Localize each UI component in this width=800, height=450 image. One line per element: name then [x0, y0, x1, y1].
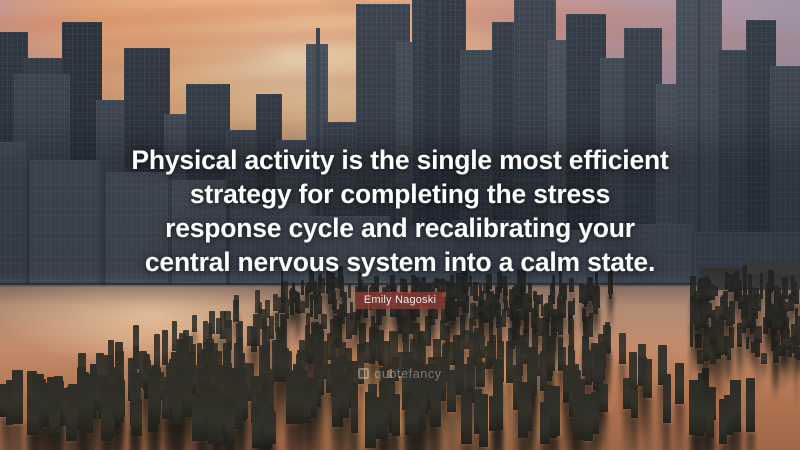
pier-piling: [573, 390, 584, 440]
pier-piling: [726, 311, 732, 326]
pier-piling: [6, 380, 14, 425]
pier-piling: [717, 326, 724, 355]
pier-piling: [737, 323, 742, 347]
pier-piling: [550, 386, 560, 436]
pier-piling: [434, 278, 438, 288]
pier-piling: [619, 333, 626, 364]
quote-line-3: response cycle and recalibrating your: [110, 211, 690, 245]
pier-piling: [748, 308, 752, 326]
pier-piling: [66, 387, 77, 441]
pier-piling: [392, 394, 400, 436]
pier-piling: [131, 399, 139, 431]
pier-piling: [209, 311, 215, 335]
pier-piling: [631, 385, 638, 418]
quote-text: Physical activity is the single most eff…: [110, 143, 690, 279]
pier-piling: [797, 326, 800, 346]
building: [0, 142, 26, 290]
pier-piling: [162, 330, 168, 365]
pier-piling: [583, 394, 593, 441]
building: [30, 160, 100, 290]
author-name: Emily Nagoski: [355, 292, 445, 309]
pier-piling: [518, 382, 528, 438]
pier-piling: [493, 382, 503, 430]
quote-line-2: strategy for completing the stress: [110, 177, 690, 211]
watermark-text: quotefancy: [374, 367, 441, 381]
pier-piling: [704, 336, 710, 360]
watermark: quotefancy: [0, 366, 800, 384]
quotefancy-logo-icon: [358, 368, 369, 379]
pier-piling: [303, 389, 311, 424]
pier-piling: [461, 392, 472, 444]
pier-piling: [351, 383, 359, 434]
pier-piling: [706, 398, 714, 437]
pier-piling: [27, 399, 39, 436]
pier-piling: [265, 411, 276, 444]
quote-line-4: central nervous system into a calm state…: [110, 245, 690, 279]
pier-piling: [746, 378, 755, 432]
pier-piling: [728, 274, 735, 291]
pier-piling: [785, 337, 789, 349]
pier-piling: [727, 342, 732, 361]
pier-piling: [365, 392, 376, 448]
pier-piling: [253, 314, 261, 347]
pier-piling: [192, 393, 203, 441]
pier-piling: [694, 306, 700, 330]
quote-line-1: Physical activity is the single most eff…: [110, 143, 690, 177]
pier-piling: [408, 396, 419, 436]
pier-piling: [101, 383, 111, 441]
pier-piling: [162, 390, 170, 419]
pier-piling: [479, 394, 489, 447]
quote-poster: Physical activity is the single most eff…: [0, 0, 800, 450]
pier-piling: [192, 315, 197, 332]
pier-piling: [743, 265, 747, 292]
pier-piling: [599, 384, 608, 412]
pier-piling: [540, 402, 550, 444]
pier-piling: [247, 326, 253, 346]
pier-piling: [49, 397, 61, 437]
pier-piling: [213, 390, 222, 445]
pier-piling: [172, 385, 182, 426]
author-attribution: Emily Nagoski: [0, 290, 800, 309]
